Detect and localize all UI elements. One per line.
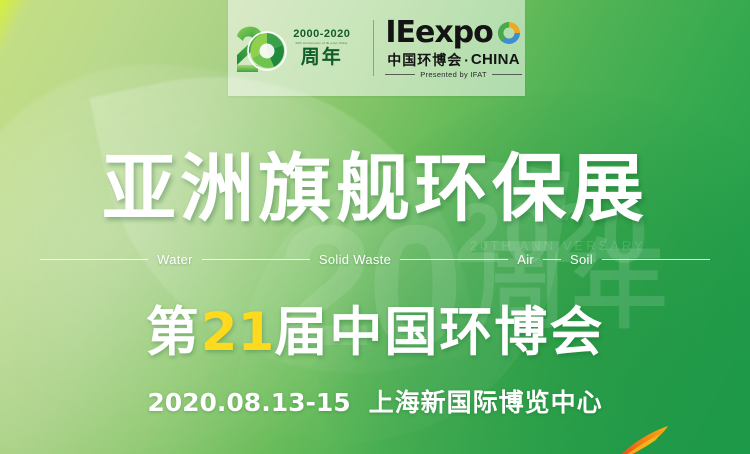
poster-root: 20 周年 2020 20TH ANNIVERSARY (0, 0, 750, 454)
event-venue: 上海新国际博览中心 (369, 389, 603, 417)
subtitle-edition-number: 21 (201, 302, 275, 363)
segment-rule-1 (202, 259, 310, 260)
ieexpo-logo-group: IEexpo 中国环博会 · CHINA Prese (385, 18, 521, 79)
segment-label-water: Water (148, 252, 202, 267)
ieexpo-wordmark: IEexpo (385, 18, 492, 48)
segment-rule-3 (543, 259, 561, 260)
anniversary-cn-label: 周年 (301, 48, 343, 67)
segment-rule-2 (400, 259, 508, 260)
anniversary-logo-group: 2000-2020 20th Anniversary of IE expo Ch… (231, 20, 362, 76)
anniversary-years: 2000-2020 (293, 29, 350, 40)
segment-label-soil: Soil (561, 252, 602, 267)
event-date: 2020.08.13-15 (147, 388, 350, 417)
ieexpo-wordmark-row: IEexpo (385, 18, 521, 48)
logo-vertical-divider (373, 20, 374, 76)
event-dateline: 2020.08.13-15上海新国际博览中心 (0, 390, 750, 416)
ieexpo-region: CHINA (471, 52, 520, 67)
ie-expo-ring-icon (496, 20, 522, 46)
presented-rule-right (492, 74, 522, 75)
presented-by-label: Presented by IFAT (420, 71, 487, 79)
segment-strip: Water Solid Waste Air Soil (40, 252, 710, 267)
segment-label-air: Air (508, 252, 543, 267)
logo-panel: 2000-2020 20th Anniversary of IE expo Ch… (228, 0, 525, 96)
ieexpo-dot: · (464, 53, 469, 67)
presented-rule-left (385, 74, 415, 75)
subtitle: 第21届中国环博会 (0, 305, 750, 361)
subtitle-prefix: 第 (146, 303, 201, 362)
ieexpo-presented-by-row: Presented by IFAT (385, 71, 521, 79)
20-anniversary-mark-icon (231, 20, 287, 76)
anniversary-text-group: 2000-2020 20th Anniversary of IE expo Ch… (293, 29, 350, 67)
page-title: 亚洲旗舰环保展 (0, 152, 750, 226)
segment-label-solid-waste: Solid Waste (310, 252, 400, 267)
subtitle-suffix: 届中国环博会 (274, 303, 604, 362)
ieexpo-cn-row: 中国环博会 · CHINA (387, 52, 520, 67)
segment-rule-0 (40, 259, 148, 260)
ieexpo-cn-name: 中国环博会 (387, 53, 462, 67)
segment-rule-4 (602, 259, 710, 260)
anniversary-tagline: 20th Anniversary of IE expo China (296, 42, 348, 45)
